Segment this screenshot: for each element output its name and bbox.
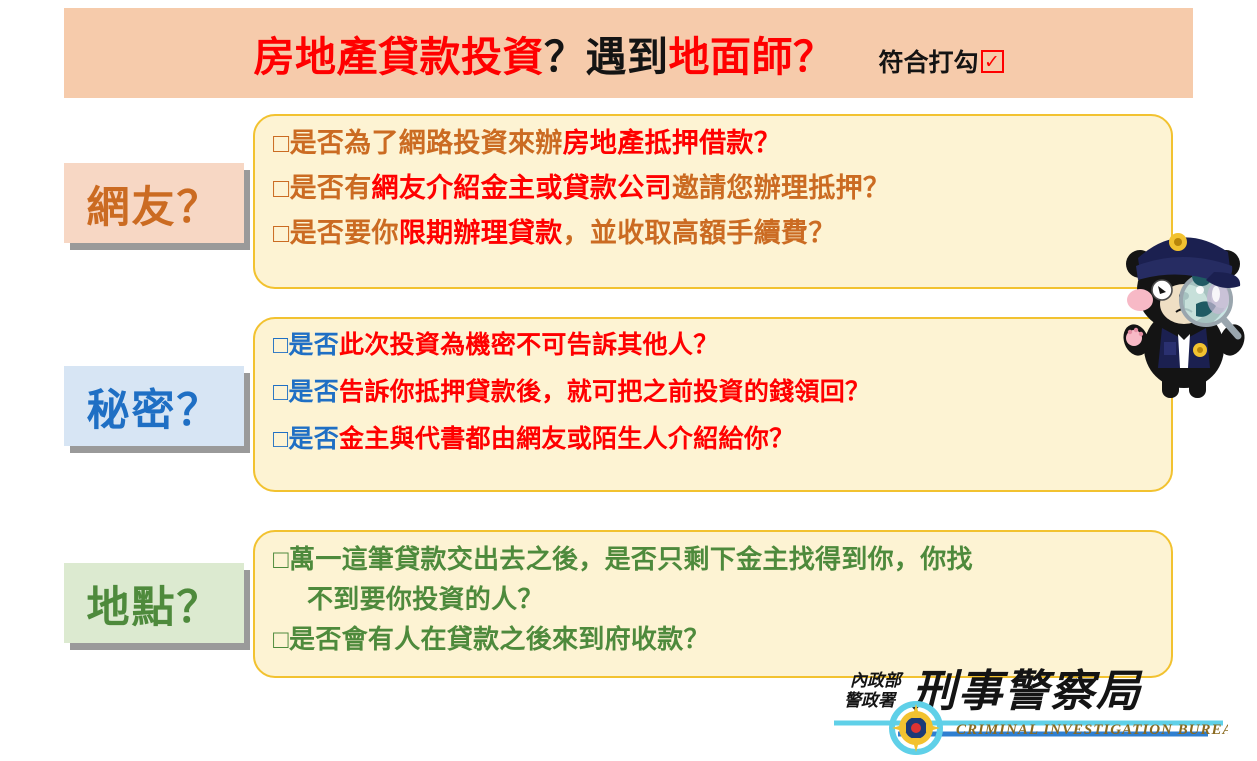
checklist-text-a: 是否 [288, 425, 339, 453]
legend-instruction: 符合打勾✓ [878, 43, 1003, 79]
title-segment-red-1: 房地產貸款投資 [253, 34, 544, 80]
checklist-text-a: 是否 [288, 331, 339, 359]
checklist-text-c: ，並收取高額手續費？ [563, 218, 836, 248]
checkbox-empty-icon[interactable]: □ [273, 128, 290, 158]
checklist-text-highlight: 告訴你抵押貸款後，就可把之前投資的錢領回？ [339, 378, 870, 406]
checklist-text-a: 是否為了網路投資來辦 [290, 128, 563, 158]
legend-label: 符合打勾 [878, 43, 978, 79]
checkbox-checked-icon: ✓ [981, 50, 1004, 73]
logo-ministry-line1: 內政部 [850, 671, 904, 690]
checklist-text-highlight: 金主與代書都由網友或陌生人介紹給你？ [339, 425, 794, 453]
slide-canvas: 房地產貸款投資？遇到地面師？ 符合打勾✓ 網友？ □是否為了網路投資來辦房地產抵… [0, 0, 1257, 761]
title-segment-red-2: 地面師？ [668, 34, 834, 80]
checklist-text-a: 是否 [288, 378, 339, 406]
section-card-location: □萬一這筆貸款交出去之後，是否只剩下金主找得到你，你找 不到要你投資的人？ □是… [253, 530, 1173, 678]
checklist-item[interactable]: □是否會有人在貸款之後來到府收款？ [273, 626, 1153, 652]
checklist-item[interactable]: □是否要你限期辦理貸款，並收取高額手續費？ [273, 220, 1153, 247]
checkbox-empty-icon[interactable]: □ [273, 173, 290, 203]
checkbox-empty-icon[interactable]: □ [273, 425, 288, 453]
checklist-text-highlight: 網友介紹金主或貸款公司 [372, 173, 672, 203]
checklist-text-highlight: 房地產抵押借款？ [563, 128, 781, 158]
section-badge-wrap-3: 地點？ [64, 563, 244, 643]
police-bear-mascot-icon [1118, 212, 1250, 402]
logo-ministry-line2: 警政署 [844, 691, 898, 710]
section-badge-location: 地點？ [64, 563, 244, 643]
checklist-item[interactable]: □是否此次投資為機密不可告訴其他人？ [273, 333, 1153, 358]
section-badge-netfriend: 網友？ [64, 163, 244, 243]
title-segment-black: ？遇到 [544, 34, 669, 80]
checklist-item[interactable]: □是否金主與代書都由網友或陌生人介紹給你？ [273, 427, 1153, 452]
section-card-netfriend: □是否為了網路投資來辦房地產抵押借款？ □是否有網友介紹金主或貸款公司邀請您辦理… [253, 114, 1173, 289]
checklist-text-highlight: 此次投資為機密不可告訴其他人？ [339, 331, 719, 359]
checklist-text-a: 萬一這筆貸款交出去之後，是否只剩下金主找得到你，你找 [289, 544, 973, 574]
checklist-text-c: 邀請您辦理抵押？ [672, 173, 890, 203]
checklist-text-a: 不到要你投資的人？ [307, 584, 544, 614]
logo-english-title: CRIMINAL INVESTIGATION BUREAU [956, 722, 1228, 738]
checkbox-empty-icon[interactable]: □ [273, 218, 290, 248]
section-badge-wrap-1: 網友？ [64, 163, 244, 243]
page-title: 房地產貸款投資？遇到地面師？ [253, 23, 834, 83]
checklist-text-a: 是否有 [290, 173, 372, 203]
checkbox-empty-icon[interactable]: □ [273, 624, 289, 654]
checklist-text-highlight: 限期辦理貸款 [399, 218, 563, 248]
cib-logo: 內政部 警政署 刑事警察局 CRIMINAL INVESTIGATION BUR… [828, 660, 1228, 755]
checklist-text-a: 是否會有人在貸款之後來到府收款？ [289, 624, 710, 654]
section-badge-secret: 秘密？ [64, 366, 244, 446]
section-badge-wrap-2: 秘密？ [64, 366, 244, 446]
section-card-secret: □是否此次投資為機密不可告訴其他人？ □是否告訴你抵押貸款後，就可把之前投資的錢… [253, 317, 1173, 492]
checkbox-empty-icon[interactable]: □ [273, 331, 288, 359]
header-banner: 房地產貸款投資？遇到地面師？ 符合打勾✓ [64, 8, 1193, 98]
checklist-item-continuation: 不到要你投資的人？ [273, 586, 1153, 612]
checkbox-empty-icon[interactable]: □ [273, 378, 288, 406]
checklist-item[interactable]: □是否有網友介紹金主或貸款公司邀請您辦理抵押？ [273, 175, 1153, 202]
checkbox-empty-icon[interactable]: □ [273, 544, 289, 574]
checklist-item[interactable]: □是否告訴你抵押貸款後，就可把之前投資的錢領回？ [273, 380, 1153, 405]
checklist-text-a: 是否要你 [290, 218, 399, 248]
header-inner: 房地產貸款投資？遇到地面師？ 符合打勾✓ [253, 23, 1003, 83]
checklist-item[interactable]: □萬一這筆貸款交出去之後，是否只剩下金主找得到你，你找 [273, 546, 1153, 572]
checklist-item[interactable]: □是否為了網路投資來辦房地產抵押借款？ [273, 130, 1153, 157]
logo-main-title: 刑事警察局 [912, 667, 1143, 716]
